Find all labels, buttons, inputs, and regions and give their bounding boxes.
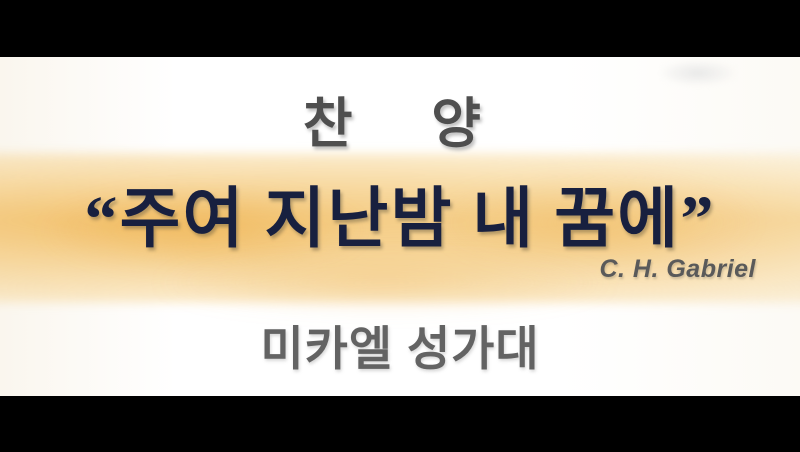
letterbox-bar-top <box>0 0 800 57</box>
composer-credit: C. H. Gabriel <box>599 255 756 284</box>
title-slide: 찬 양 “주여 지난밤 내 꿈에” C. H. Gabriel 미카엘 성가대 <box>0 57 800 396</box>
performer-credit: 미카엘 성가대 <box>0 310 800 379</box>
slide-text-layer: 찬 양 “주여 지난밤 내 꿈에” C. H. Gabriel 미카엘 성가대 <box>0 57 800 396</box>
song-title: “주여 지난밤 내 꿈에” <box>0 165 800 261</box>
letterbox-bar-bottom <box>0 396 800 452</box>
video-frame: 찬 양 “주여 지난밤 내 꿈에” C. H. Gabriel 미카엘 성가대 <box>0 0 800 452</box>
category-heading: 찬 양 <box>0 79 800 158</box>
